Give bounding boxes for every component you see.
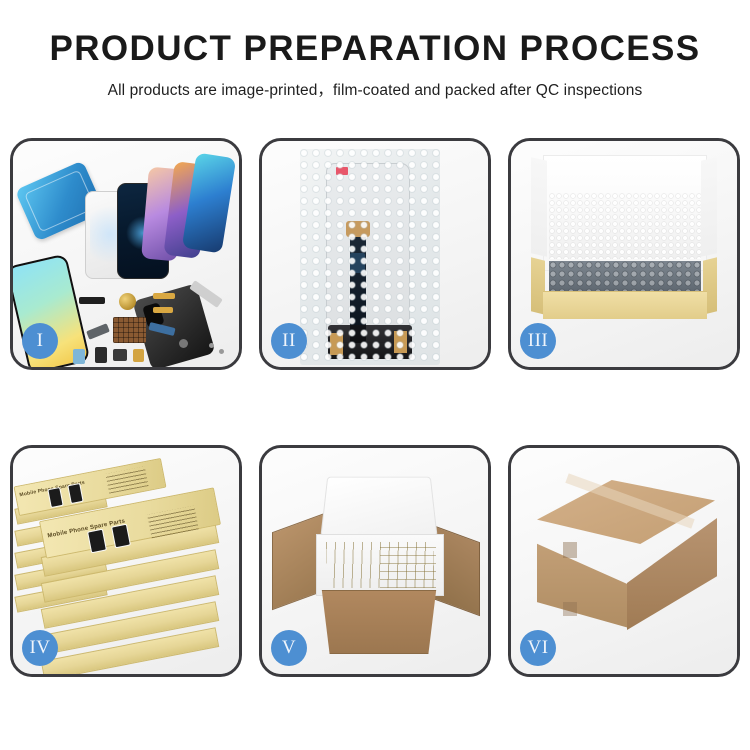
page-subtitle: All products are image-printed，film-coat…: [0, 78, 750, 100]
step-badge-1: I: [22, 323, 58, 359]
carton-front-panel: [314, 590, 444, 654]
box-lid-left-flap: [531, 157, 547, 256]
wrapped-lcd-screen: [326, 163, 410, 343]
box-lid-right-flap: [701, 157, 717, 256]
screen-flex-cable: [350, 227, 366, 343]
carton-seam-lower: [563, 602, 577, 616]
red-label-sticker: [336, 167, 348, 175]
step-badge-2: II: [271, 323, 307, 359]
process-step-panel-6: VI: [508, 445, 740, 677]
step-badge-6: VI: [520, 630, 556, 666]
wireless-coil-icon: [119, 293, 136, 310]
page-header: PRODUCT PREPARATION PROCESS All products…: [0, 0, 750, 100]
screw-2-icon: [219, 349, 224, 354]
box-front-panel: [543, 291, 707, 319]
flex-cable-icon: [79, 297, 105, 304]
carton-seam-upper: [563, 542, 577, 558]
process-step-panel-5: V: [259, 445, 491, 677]
grey-bubble-wrapped-item: [549, 261, 701, 293]
camera-lens-icon: [179, 339, 188, 348]
circuit-board-icon: [113, 317, 146, 343]
process-steps-grid: I II: [10, 138, 740, 677]
gold-contact-left: [330, 333, 343, 355]
screen-lower-assembly: [328, 325, 412, 359]
driver-ic-chip: [350, 253, 365, 273]
small-part-2-icon: [113, 349, 127, 361]
white-foam-sheet: [549, 193, 701, 259]
process-step-panel-3: III: [508, 138, 740, 370]
process-step-panel-1: I: [10, 138, 242, 370]
process-step-panel-4: Mobile Phone Spare Parts Mobile Phone S: [10, 445, 242, 677]
bubble-wrap-bag: [300, 149, 440, 365]
foam-cooler-lid: [320, 477, 437, 537]
metal-bracket-icon: [86, 323, 110, 340]
carton-top-face: [537, 480, 715, 544]
step-badge-5: V: [271, 630, 307, 666]
yellow-boxes-row-2: [380, 540, 436, 588]
screw-1-icon: [209, 343, 214, 348]
gold-flex-cable-icon: [153, 293, 175, 299]
step-badge-3: III: [520, 323, 556, 359]
battery-part-icon: [73, 349, 85, 364]
gold-contact-right: [394, 331, 407, 353]
process-step-panel-2: II: [259, 138, 491, 370]
small-part-3-icon: [133, 349, 144, 362]
sealed-carton: [527, 480, 725, 640]
product-preparation-process-page: PRODUCT PREPARATION PROCESS All products…: [0, 0, 750, 750]
step-badge-4: IV: [22, 630, 58, 666]
gold-flex-cable-2-icon: [153, 307, 173, 313]
page-title: PRODUCT PREPARATION PROCESS: [0, 30, 750, 68]
small-part-1-icon: [95, 347, 107, 363]
flex-connector: [346, 221, 370, 237]
